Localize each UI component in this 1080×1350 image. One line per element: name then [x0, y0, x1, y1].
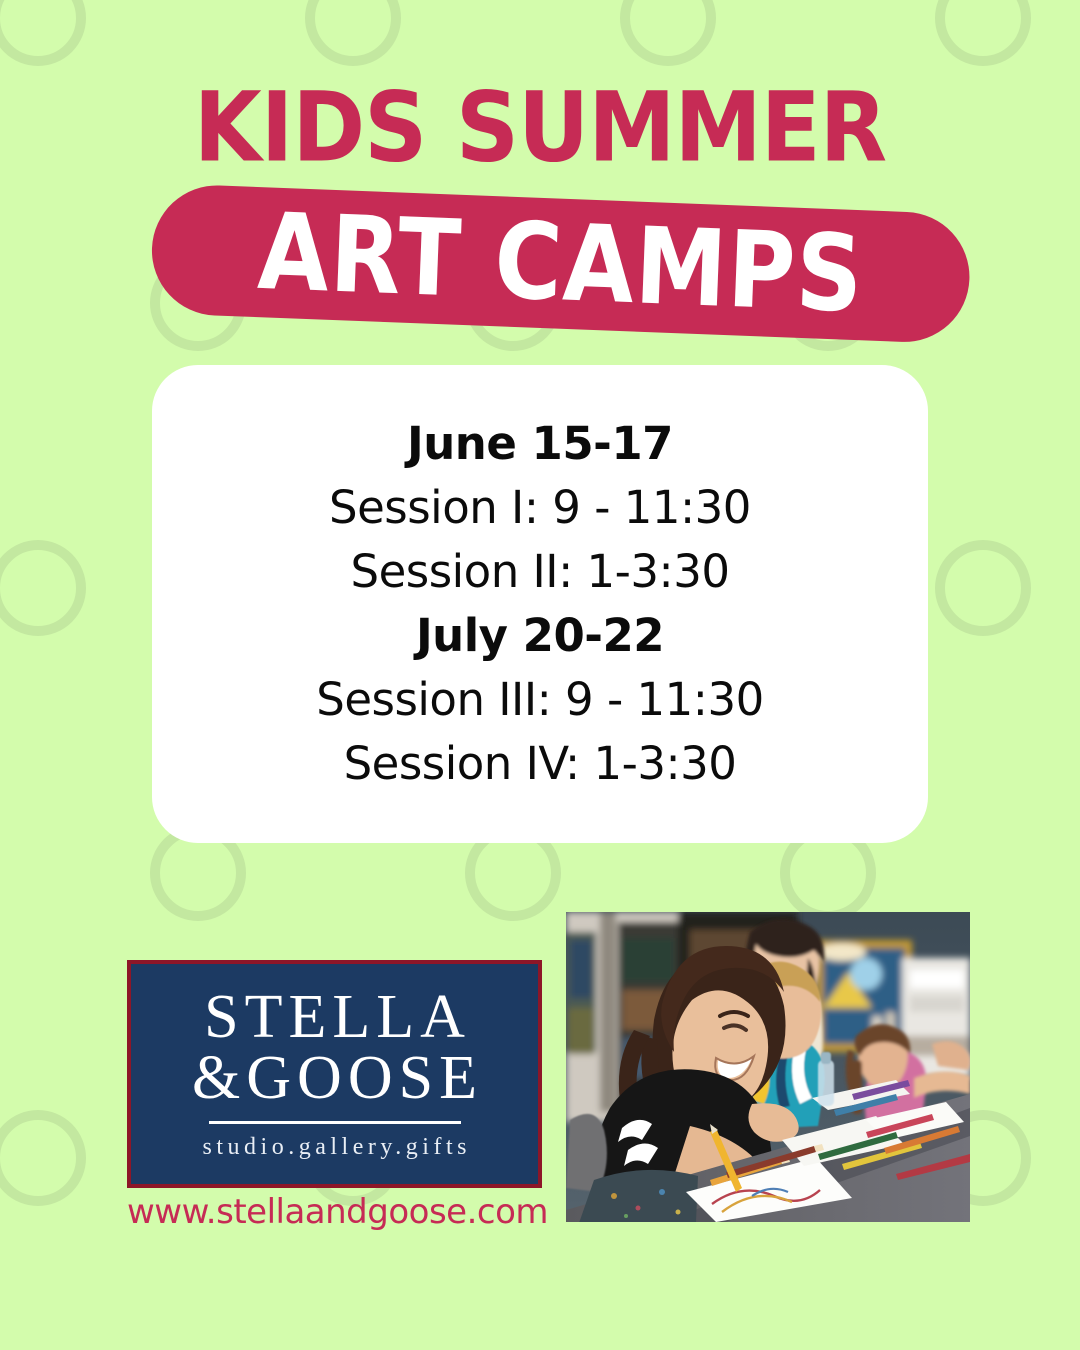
decorative-circle — [935, 540, 1031, 636]
decorative-circle — [0, 0, 86, 66]
logo-line-goose: &GOOSE — [186, 1048, 483, 1109]
schedule-session-4: Session IV: 1-3:30 — [344, 732, 737, 796]
schedule-card: June 15-17 Session I: 9 - 11:30 Session … — [152, 365, 928, 843]
schedule-date-1: June 15-17 — [407, 412, 673, 476]
page-title: KIDS SUMMER — [0, 80, 1080, 176]
decorative-circle — [0, 540, 86, 636]
decorative-circle — [620, 0, 716, 66]
schedule-session-2: Session II: 1-3:30 — [351, 540, 730, 604]
decorative-circle — [935, 0, 1031, 66]
art-camps-banner: ART CAMPS — [150, 183, 972, 344]
schedule-session-3: Session III: 9 - 11:30 — [316, 668, 763, 732]
poster-canvas: KIDS SUMMER ART CAMPS June 15-17 Session… — [0, 0, 1080, 1350]
schedule-session-1: Session I: 9 - 11:30 — [329, 476, 751, 540]
logo-line-stella: STELLA — [198, 987, 471, 1048]
decorative-circle — [305, 0, 401, 66]
website-url[interactable]: www.stellaandgoose.com — [127, 1192, 542, 1232]
schedule-date-2: July 20-22 — [416, 604, 664, 668]
art-class-photo-illustration — [566, 912, 970, 1222]
stella-and-goose-logo: STELLA &GOOSE studio.gallery.gifts — [127, 960, 542, 1188]
art-camps-banner-label: ART CAMPS — [256, 199, 865, 328]
logo-divider — [209, 1121, 461, 1124]
logo-tagline: studio.gallery.gifts — [198, 1134, 471, 1161]
art-class-photo — [566, 912, 970, 1222]
decorative-circle — [0, 1110, 86, 1206]
